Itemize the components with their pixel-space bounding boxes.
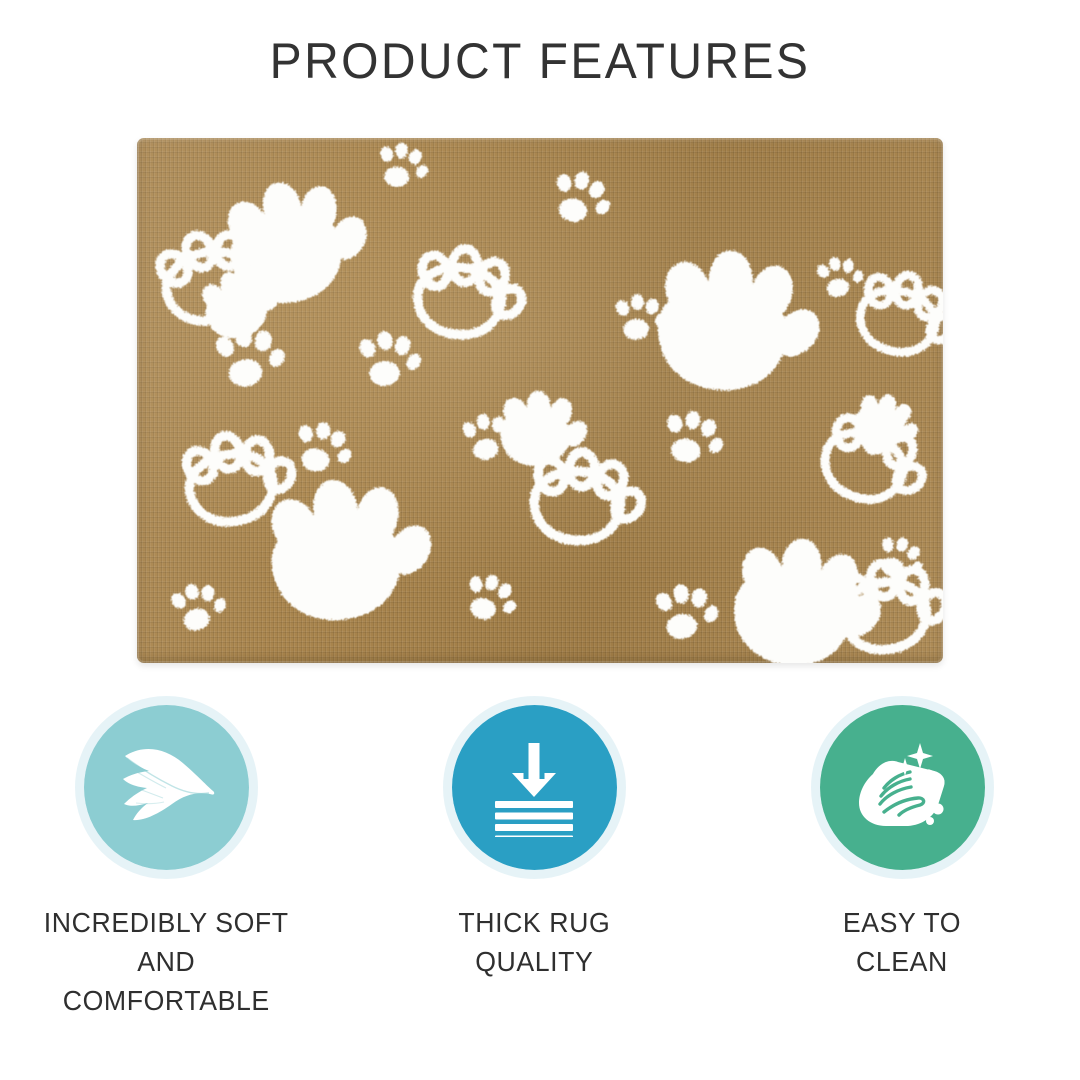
feature-caption-soft: INCREDIBLY SOFT AND COMFORTABLE — [44, 903, 289, 1020]
feature-caption-thick: THICK RUG QUALITY — [458, 903, 610, 981]
feature-badge-soft — [84, 705, 249, 870]
hand-wiping-cloth-icon — [850, 741, 954, 835]
feature-item-clean: EASY TO CLEAN — [724, 705, 1080, 1020]
feature-item-thick: THICK RUG QUALITY — [356, 705, 712, 1020]
feature-caption-clean: EASY TO CLEAN — [843, 903, 961, 981]
feature-badge-thick — [452, 705, 617, 870]
feature-item-soft: INCREDIBLY SOFT AND COMFORTABLE — [0, 705, 344, 1020]
features-row: INCREDIBLY SOFT AND COMFORTABLE — [0, 705, 1080, 1020]
rug-surface — [137, 138, 943, 663]
paw-print-pattern — [137, 138, 943, 663]
page-title: PRODUCT FEATURES — [22, 36, 1059, 86]
arrow-down-layers-icon — [486, 739, 582, 837]
feather-icon — [114, 742, 218, 834]
product-image — [137, 138, 943, 663]
feature-badge-clean — [820, 705, 985, 870]
